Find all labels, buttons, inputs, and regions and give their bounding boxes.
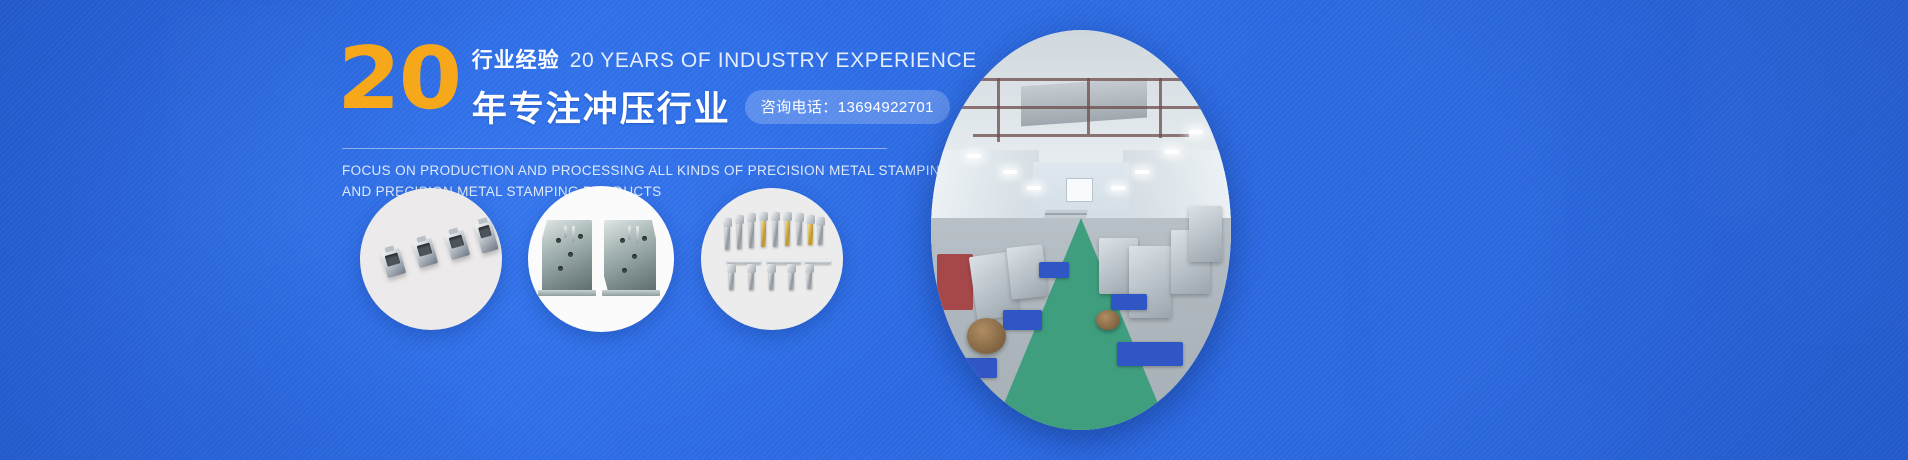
headline: 20 行业经验 20 YEARS OF INDUSTRY EXPERIENCE … [338, 40, 898, 132]
subcopy-line-1: FOCUS ON PRODUCTION AND PROCESSING ALL K… [342, 161, 887, 182]
headline-line-2: 年专注冲压行业 咨询电话：13694922701 [472, 81, 977, 132]
headline-line-1: 行业经验 20 YEARS OF INDUSTRY EXPERIENCE [472, 44, 977, 74]
promo-banner: 20 行业经验 20 YEARS OF INDUSTRY EXPERIENCE … [0, 0, 1908, 460]
years-number: 20 [337, 44, 461, 115]
cn-tagline-big: 年专注冲压行业 [472, 81, 731, 132]
divider-line [342, 148, 887, 149]
stamping-die-photo [528, 186, 674, 332]
metal-terminals-photo [701, 188, 843, 330]
en-tagline-small: 20 YEARS OF INDUSTRY EXPERIENCE [570, 49, 977, 73]
factory-workshop-photo [931, 30, 1231, 430]
cn-tagline-small: 行业经验 [472, 44, 560, 74]
phone-badge[interactable]: 咨询电话：13694922701 [745, 90, 950, 124]
usb-connectors-photo [360, 188, 502, 330]
headline-block: 20 行业经验 20 YEARS OF INDUSTRY EXPERIENCE … [338, 40, 898, 203]
